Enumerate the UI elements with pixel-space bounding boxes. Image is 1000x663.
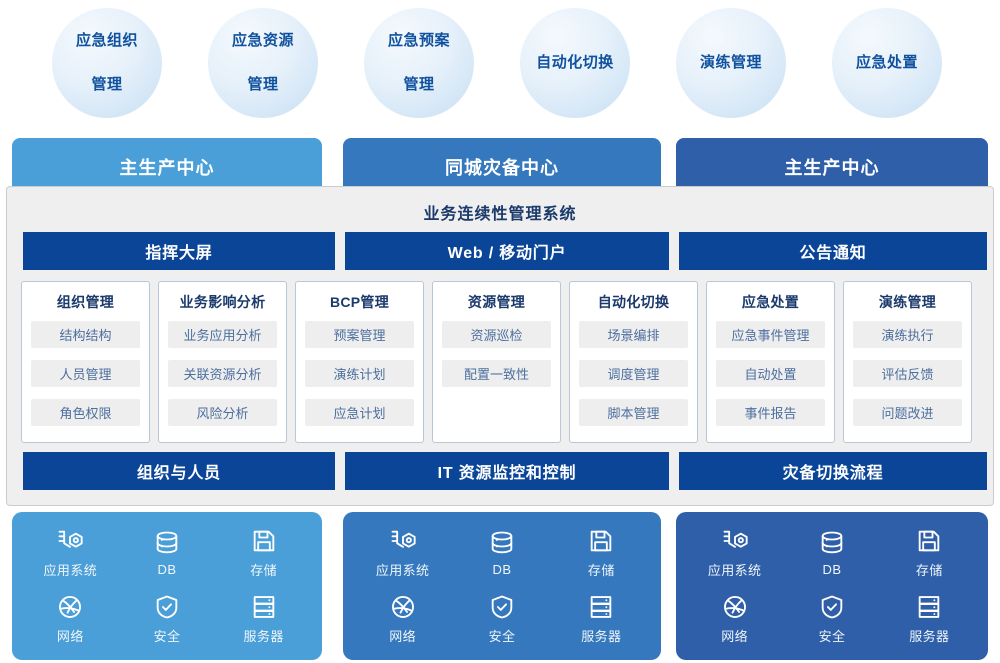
infra-label: 安全	[819, 626, 846, 645]
module-card-bcp[interactable]: BCP管理 预案管理 演练计划 应急计划	[295, 281, 424, 443]
bottom-bar-org-people[interactable]: 组织与人员	[23, 452, 335, 490]
module-card-title: 资源管理	[468, 292, 525, 312]
infra-label: DB	[493, 562, 512, 577]
capability-circle-1-line1: 应急资源	[215, 30, 311, 52]
database-icon	[153, 529, 181, 557]
infrastructure-panel-primary: 应用系统 DB 存储 网络 安全 服务器	[12, 512, 322, 660]
module-card-title: 业务影响分析	[180, 292, 266, 312]
capability-circle-2-line1: 应急预案	[371, 30, 467, 52]
module-card-bia[interactable]: 业务影响分析 业务应用分析 关联资源分析 风险分析	[158, 281, 287, 443]
infra-label: 存储	[916, 560, 943, 579]
security-icon	[488, 593, 516, 621]
infrastructure-panel-remote: 应用系统 DB 存储 网络 安全 服务器	[676, 512, 988, 660]
infra-cell-app-system[interactable]: 应用系统	[44, 527, 98, 579]
infra-label: 服务器	[909, 626, 949, 645]
module-card-title: BCP管理	[330, 292, 389, 312]
infra-cell-storage[interactable]: 存储	[587, 527, 615, 579]
module-card-strip: 组织管理 结构结构 人员管理 角色权限 业务影响分析 业务应用分析 关联资源分析…	[21, 281, 981, 443]
infra-cell-security[interactable]: 安全	[153, 593, 181, 645]
infra-label: 安全	[154, 626, 181, 645]
module-item[interactable]: 调度管理	[579, 360, 688, 387]
module-item[interactable]: 事件报告	[716, 399, 825, 426]
module-card-resource-management[interactable]: 资源管理 资源巡检 配置一致性	[432, 281, 561, 443]
module-item[interactable]: 业务应用分析	[168, 321, 277, 348]
module-item[interactable]: 评估反馈	[853, 360, 962, 387]
infra-cell-security[interactable]: 安全	[488, 593, 516, 645]
bcm-system-frame: 业务连续性管理系统 指挥大屏 Web / 移动门户 公告通知 组织管理 结构结构…	[6, 186, 994, 506]
module-card-title: 演练管理	[879, 292, 936, 312]
module-item[interactable]: 风险分析	[168, 399, 277, 426]
infrastructure-panel-metro-dr: 应用系统 DB 存储 网络 安全 服务器	[343, 512, 661, 660]
module-card-title: 组织管理	[57, 292, 114, 312]
module-item[interactable]: 配置一致性	[442, 360, 551, 387]
infra-cell-db[interactable]: DB	[153, 529, 181, 577]
bottom-bar-dr-switch-process[interactable]: 灾备切换流程	[679, 452, 987, 490]
network-icon	[389, 593, 417, 621]
app-system-icon	[56, 527, 84, 555]
infra-cell-server[interactable]: 服务器	[244, 593, 284, 645]
infra-cell-storage[interactable]: 存储	[915, 527, 943, 579]
security-icon	[818, 593, 846, 621]
infra-cell-server[interactable]: 服务器	[909, 593, 949, 645]
module-card-title: 自动化切换	[598, 292, 670, 312]
infra-label: 服务器	[244, 626, 284, 645]
infra-label: 网络	[57, 626, 84, 645]
infra-label: 网络	[721, 626, 748, 645]
module-item[interactable]: 预案管理	[305, 321, 414, 348]
module-item[interactable]: 自动处置	[716, 360, 825, 387]
module-item[interactable]: 应急事件管理	[716, 321, 825, 348]
module-card-title: 应急处置	[742, 292, 799, 312]
capability-circle-5[interactable]: 应急处置	[832, 8, 942, 118]
module-item[interactable]: 演练计划	[305, 360, 414, 387]
server-icon	[587, 593, 615, 621]
module-item[interactable]: 人员管理	[31, 360, 140, 387]
capability-circle-3[interactable]: 自动化切换	[520, 8, 630, 118]
infra-cell-db[interactable]: DB	[818, 529, 846, 577]
capability-circle-5-label: 应急处置	[839, 52, 935, 74]
bottom-bar-it-monitoring[interactable]: IT 资源监控和控制	[345, 452, 669, 490]
capability-circle-4-label: 演练管理	[683, 52, 779, 74]
module-item[interactable]: 关联资源分析	[168, 360, 277, 387]
infra-label: 安全	[489, 626, 516, 645]
app-system-icon	[721, 527, 749, 555]
system-title: 业务连续性管理系统	[7, 200, 993, 224]
infra-cell-network[interactable]: 网络	[389, 593, 417, 645]
infra-label: 应用系统	[44, 560, 98, 579]
diagram-root: 应急组织管理 应急资源管理 应急预案管理 自动化切换 演练管理 应急处置 主生产…	[0, 0, 1000, 663]
module-card-drill-management[interactable]: 演练管理 演练执行 评估反馈 问题改进	[843, 281, 972, 443]
top-bar-command-screen[interactable]: 指挥大屏	[23, 232, 335, 270]
database-icon	[488, 529, 516, 557]
module-item[interactable]: 场景编排	[579, 321, 688, 348]
module-item[interactable]: 问题改进	[853, 399, 962, 426]
storage-icon	[915, 527, 943, 555]
infra-cell-network[interactable]: 网络	[721, 593, 749, 645]
infra-cell-server[interactable]: 服务器	[581, 593, 621, 645]
capability-circle-3-label: 自动化切换	[527, 52, 623, 74]
capability-circle-2[interactable]: 应急预案管理	[364, 8, 474, 118]
infra-label: 网络	[389, 626, 416, 645]
infra-label: DB	[823, 562, 842, 577]
app-system-icon	[389, 527, 417, 555]
security-icon	[153, 593, 181, 621]
capability-circle-0-line1: 应急组织	[59, 30, 155, 52]
module-item[interactable]: 脚本管理	[579, 399, 688, 426]
network-icon	[721, 593, 749, 621]
capability-circle-0-line2: 管理	[59, 74, 155, 96]
server-icon	[250, 593, 278, 621]
infra-label: DB	[158, 562, 177, 577]
module-item[interactable]: 结构结构	[31, 321, 140, 348]
network-icon	[56, 593, 84, 621]
database-icon	[818, 529, 846, 557]
module-card-automation-switch[interactable]: 自动化切换 场景编排 调度管理 脚本管理	[569, 281, 698, 443]
capability-circle-row: 应急组织管理 应急资源管理 应急预案管理 自动化切换 演练管理 应急处置	[0, 0, 1000, 130]
infra-label: 应用系统	[376, 560, 430, 579]
infra-cell-app-system[interactable]: 应用系统	[376, 527, 430, 579]
module-item[interactable]: 资源巡检	[442, 321, 551, 348]
storage-icon	[250, 527, 278, 555]
storage-icon	[587, 527, 615, 555]
server-icon	[915, 593, 943, 621]
capability-circle-4[interactable]: 演练管理	[676, 8, 786, 118]
infra-cell-storage[interactable]: 存储	[250, 527, 278, 579]
infra-cell-db[interactable]: DB	[488, 529, 516, 577]
capability-circle-1-line2: 管理	[215, 74, 311, 96]
infra-cell-security[interactable]: 安全	[818, 593, 846, 645]
module-item[interactable]: 角色权限	[31, 399, 140, 426]
infra-label: 服务器	[581, 626, 621, 645]
infra-cell-app-system[interactable]: 应用系统	[708, 527, 762, 579]
module-item[interactable]: 应急计划	[305, 399, 414, 426]
capability-circle-0[interactable]: 应急组织管理	[52, 8, 162, 118]
infra-label: 应用系统	[708, 560, 762, 579]
capability-circle-1[interactable]: 应急资源管理	[208, 8, 318, 118]
module-item[interactable]: 演练执行	[853, 321, 962, 348]
module-card-emergency-response[interactable]: 应急处置 应急事件管理 自动处置 事件报告	[706, 281, 835, 443]
infra-label: 存储	[588, 560, 615, 579]
module-card-org-management[interactable]: 组织管理 结构结构 人员管理 角色权限	[21, 281, 150, 443]
infra-cell-network[interactable]: 网络	[56, 593, 84, 645]
capability-circle-2-line2: 管理	[371, 74, 467, 96]
infra-label: 存储	[250, 560, 277, 579]
top-bar-announcement[interactable]: 公告通知	[679, 232, 987, 270]
top-bar-web-portal[interactable]: Web / 移动门户	[345, 232, 669, 270]
